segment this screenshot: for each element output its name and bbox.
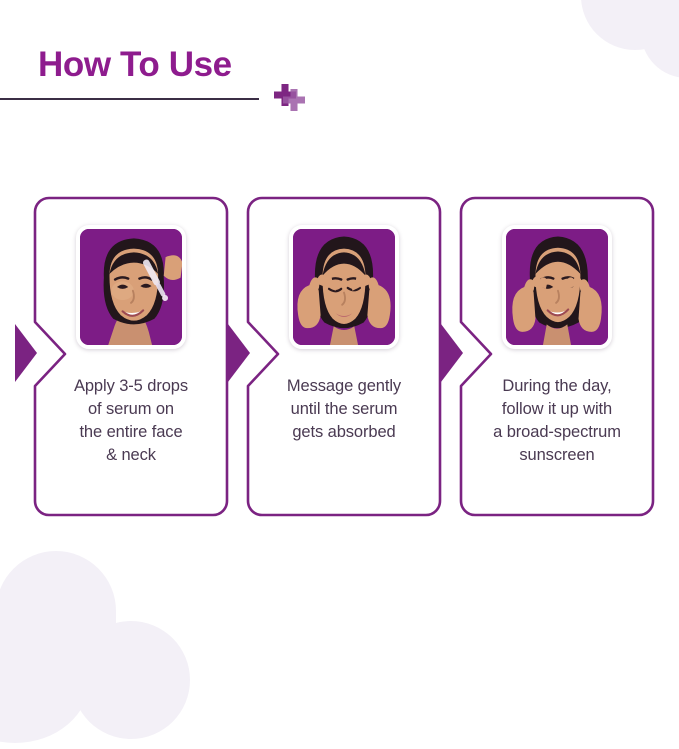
page-title: How To Use [0,44,679,86]
step-card: During the day, follow it up with a broa… [459,196,655,517]
step-image [289,225,399,349]
step-caption: Apply 3-5 drops of serum on the entire f… [38,375,224,467]
how-to-use-steps: Apply 3-5 drops of serum on the entire f… [0,196,679,518]
step-caption: Message gently until the serum gets abso… [251,375,437,444]
step-card: Apply 3-5 drops of serum on the entire f… [33,196,229,517]
header: How To Use [0,44,679,86]
background-blob-bottom-left [0,543,200,733]
step-image [76,225,186,349]
step-card: Message gently until the serum gets abso… [246,196,442,517]
step-caption: During the day, follow it up with a broa… [464,375,650,467]
step-image [502,225,612,349]
clover-plus-icon [274,83,308,117]
title-divider-rule [0,98,259,100]
